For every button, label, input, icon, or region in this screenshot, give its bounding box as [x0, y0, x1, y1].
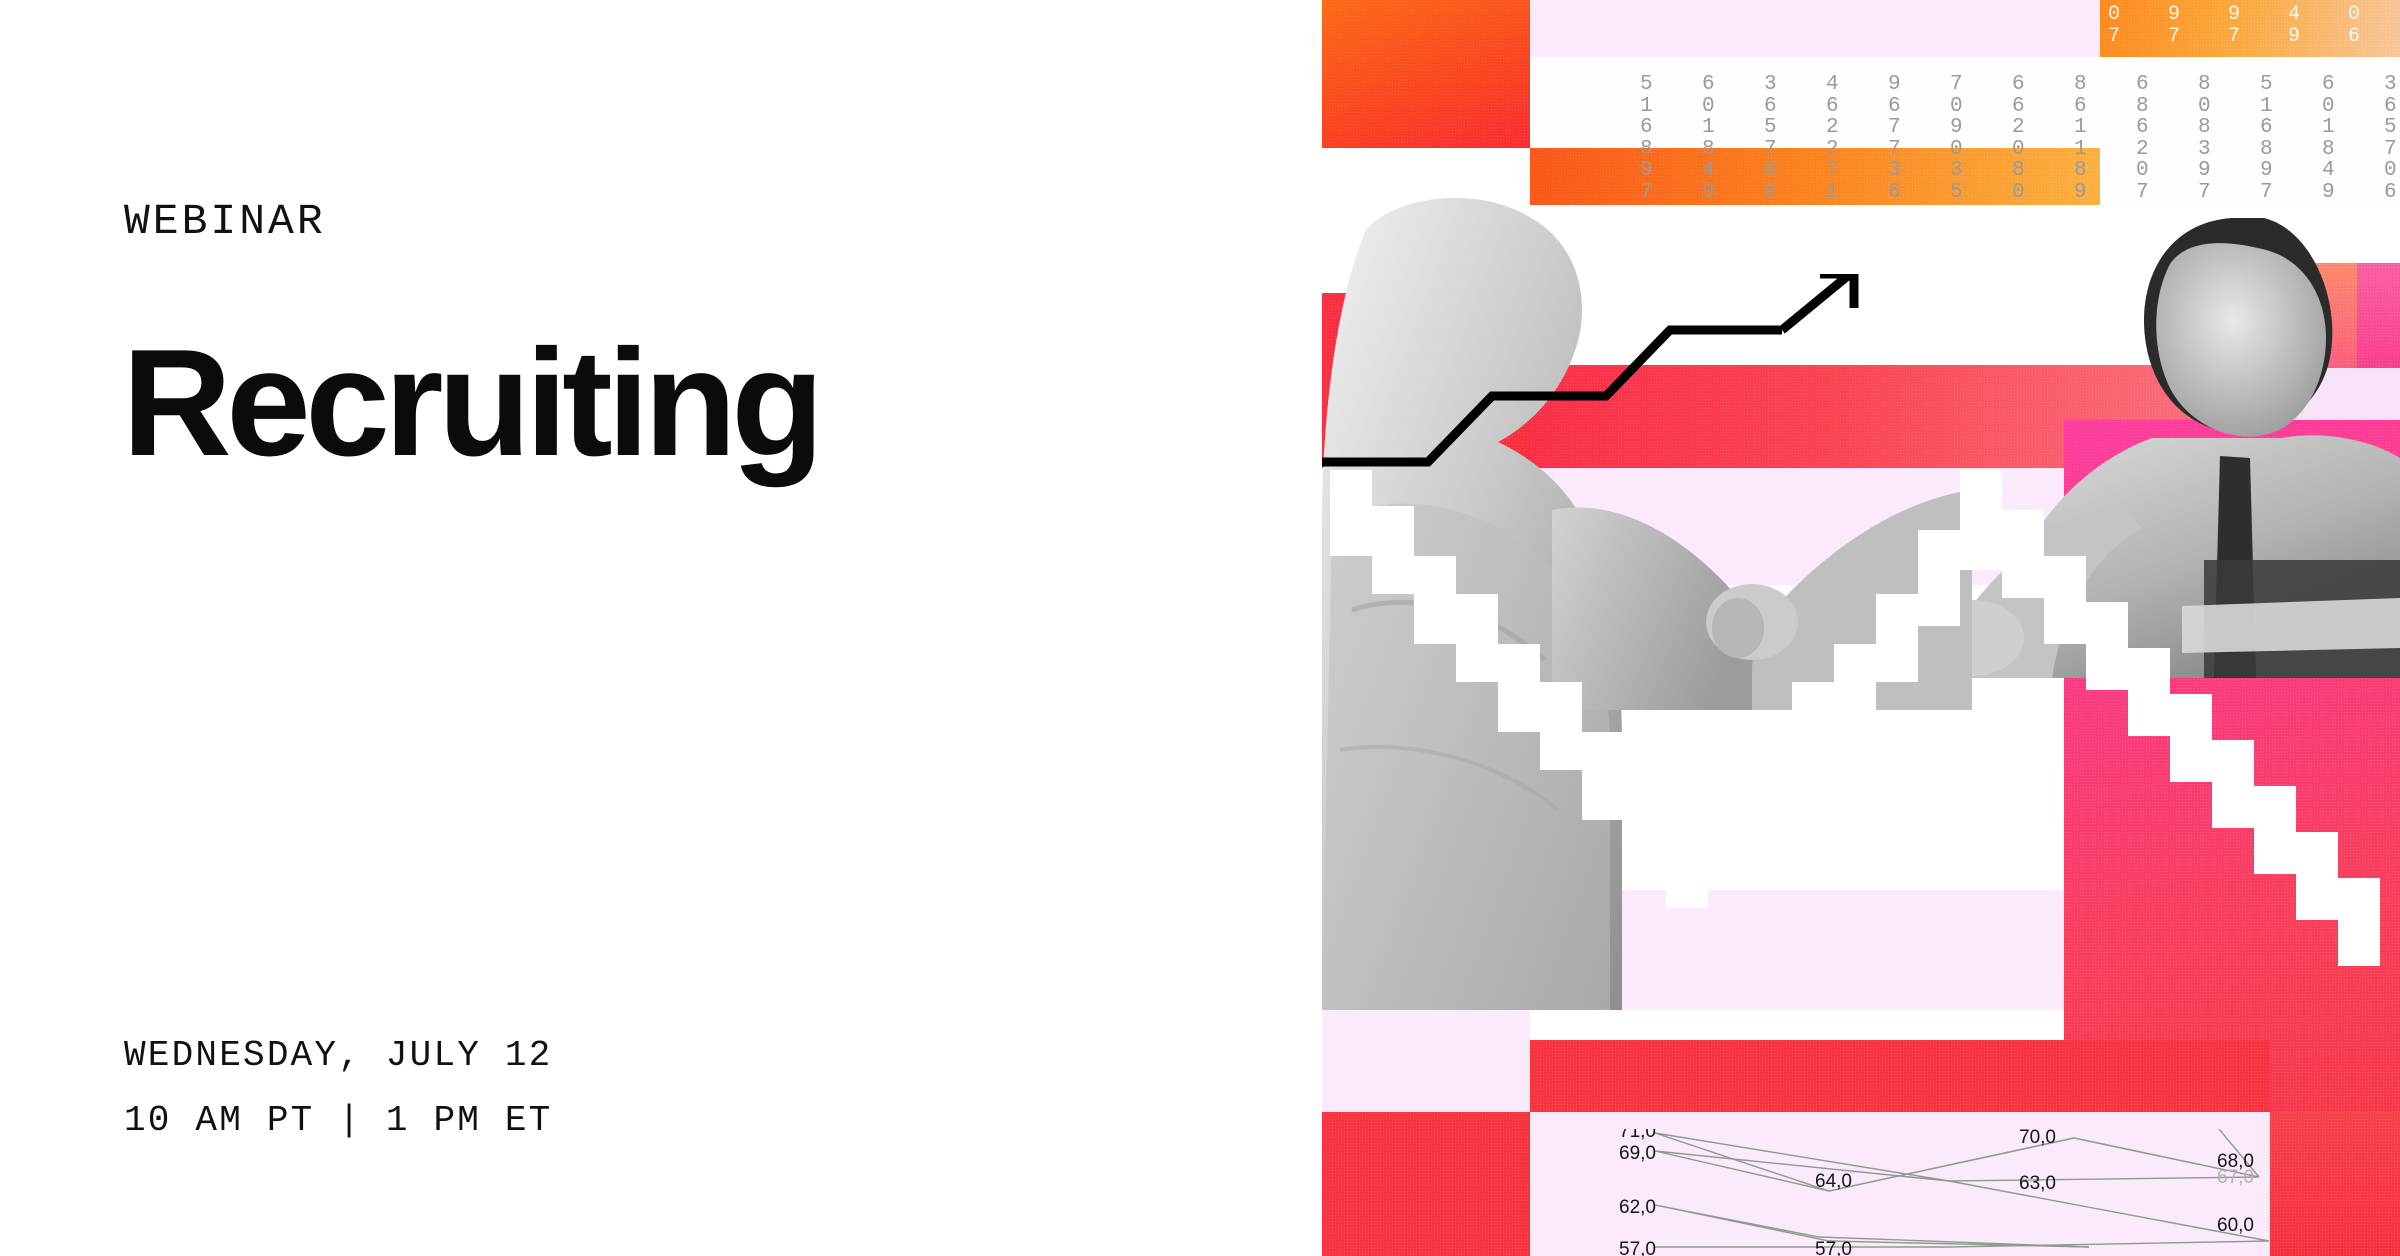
number-grid-corner: 0 9 9 4 0 7 3 7 7 7 9 6 1 6 — [2108, 4, 2400, 50]
upward-trend-arrow-icon — [1322, 274, 2022, 494]
event-details: WEDNESDAY, JULY 12 10 AM PT | 1 PM ET — [124, 1023, 552, 1153]
collage-artwork: 5 6 3 4 9 7 6 8 6 8 5 6 3 4 9 7 6 8 1 0 … — [1322, 0, 2400, 1256]
block-lavender-top — [1530, 0, 2100, 57]
descending-pixel-staircase-icon — [1322, 470, 2400, 1256]
webinar-promo-slide: WEBINAR Recruiting WEDNESDAY, JULY 12 10… — [0, 0, 2400, 1256]
event-date: WEDNESDAY, JULY 12 — [124, 1023, 552, 1088]
eyebrow-label: WEBINAR — [124, 200, 326, 243]
event-time: 10 AM PT | 1 PM ET — [124, 1088, 552, 1153]
page-title: Recruiting — [122, 327, 819, 479]
block-orange-top-left — [1322, 0, 1530, 148]
number-grid: 5 6 3 4 9 7 6 8 6 8 5 6 3 4 9 7 6 8 1 0 … — [1640, 74, 2400, 202]
left-text-panel: WEBINAR Recruiting WEDNESDAY, JULY 12 10… — [0, 0, 1322, 1256]
